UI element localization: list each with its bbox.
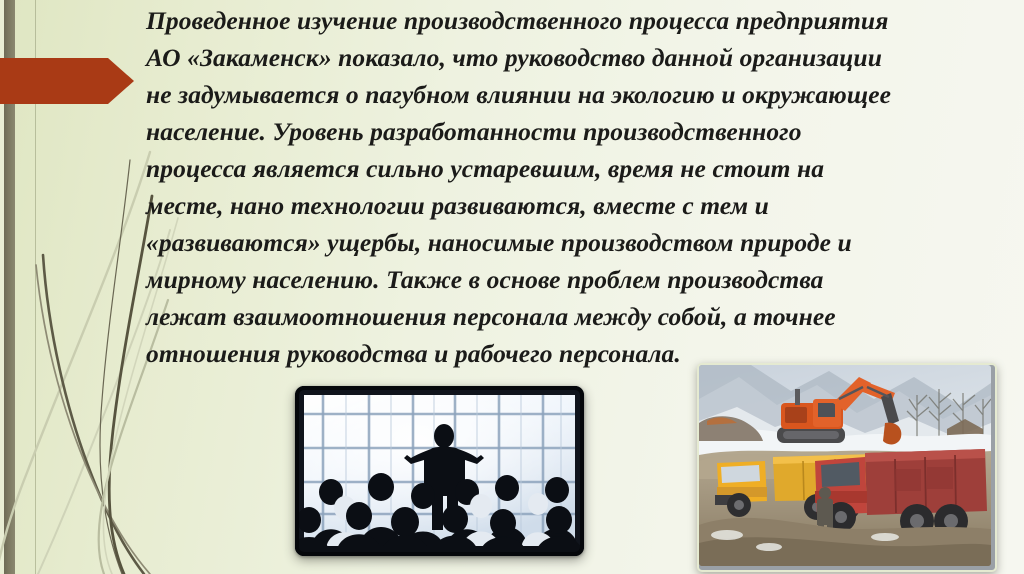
right-pointing-arrow [0,56,134,106]
body-text-line: мирному населению. Также в основе пробле… [146,261,1018,298]
body-text-line: не задумывается о пагубном влиянии на эк… [146,76,1018,113]
quarry-trucks-photo [697,363,997,572]
slide-canvas: Проведенное изучение производственного п… [0,0,1024,574]
body-text-line: Проведенное изучение производственного п… [146,2,1018,39]
body-text-block: Проведенное изучение производственного п… [146,2,1018,372]
meeting-silhouette-photo [295,386,584,556]
body-text-line: лежат взаимоотношения персонала между со… [146,298,1018,335]
body-text-line: процесса является сильно устаревшим, вре… [146,150,1018,187]
body-text-line: население. Уровень разработанности произ… [146,113,1018,150]
body-text-line: «развиваются» ущербы, наносимые производ… [146,224,1018,261]
body-text-line: АО «Закаменск» показало, что руководство… [146,39,1018,76]
body-text-line: месте, нано технологии развиваются, вмес… [146,187,1018,224]
